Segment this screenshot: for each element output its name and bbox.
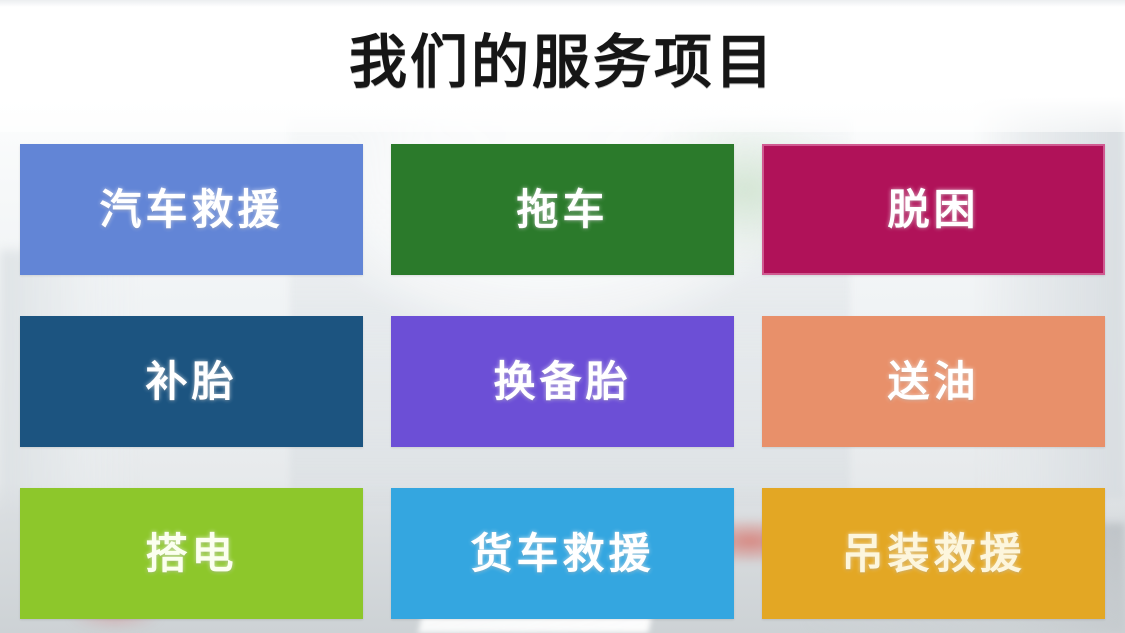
service-tile-jump-start[interactable]: 搭电 (20, 488, 363, 619)
service-tile-tow-truck[interactable]: 拖车 (391, 144, 734, 275)
service-tile-fuel-delivery[interactable]: 送油 (762, 316, 1105, 447)
service-tile-label: 货车救援 (470, 533, 654, 575)
service-tile-hoisting-rescue[interactable]: 吊装救援 (762, 488, 1105, 619)
service-tile-label: 换备胎 (493, 361, 631, 403)
service-tile-label: 拖车 (516, 189, 608, 231)
service-tile-tire-repair[interactable]: 补胎 (20, 316, 363, 447)
service-tile-spare-tire-change[interactable]: 换备胎 (391, 316, 734, 447)
service-tile-label: 吊装救援 (841, 533, 1025, 575)
service-tile-extrication[interactable]: 脱困 (762, 144, 1105, 275)
service-poster: 我们的服务项目 汽车救援 拖车 脱困 补胎 换备胎 送油 搭电 货车救援 吊装救… (0, 0, 1125, 633)
service-tile-car-rescue[interactable]: 汽车救援 (20, 144, 363, 275)
service-tile-label: 补胎 (145, 361, 237, 403)
page-title-text: 我们的服务项目 (349, 34, 776, 92)
service-grid: 汽车救援 拖车 脱困 补胎 换备胎 送油 搭电 货车救援 吊装救援 (20, 144, 1105, 619)
service-tile-truck-rescue[interactable]: 货车救援 (391, 488, 734, 619)
service-tile-label: 脱困 (887, 189, 979, 231)
service-tile-label: 搭电 (145, 533, 237, 575)
service-tile-label: 汽车救援 (99, 189, 283, 231)
page-title: 我们的服务项目 (0, 0, 1125, 126)
service-tile-label: 送油 (887, 361, 979, 403)
